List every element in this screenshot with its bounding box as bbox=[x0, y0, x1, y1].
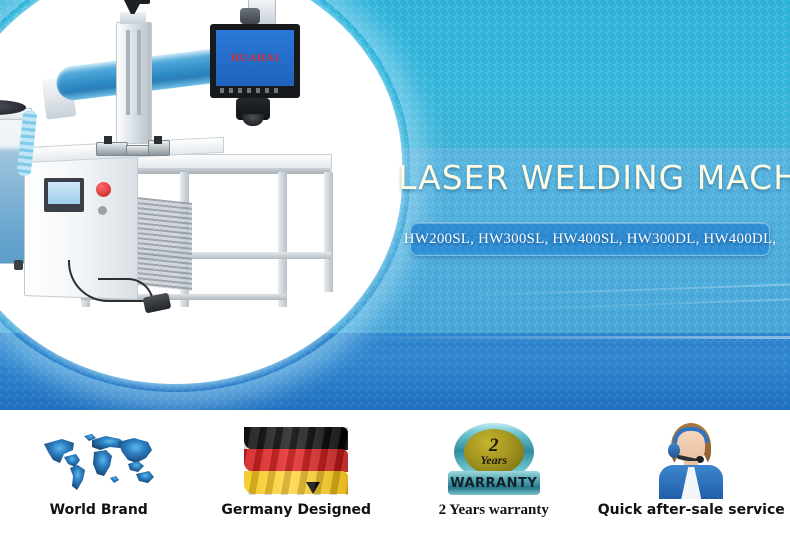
hmi-screen bbox=[48, 182, 80, 204]
hero-title: LASER WELDING MACHINE bbox=[398, 158, 790, 197]
feature-item-warranty: 2 Years WARRANTY 2 Years warranty bbox=[395, 410, 593, 541]
hero-section: HUAHAI LASER WELDING MACHINE HW200SL, HW… bbox=[0, 0, 790, 410]
fixture-clamp bbox=[96, 142, 128, 156]
headset-operator-icon bbox=[653, 422, 729, 500]
caster-wheel bbox=[14, 260, 23, 270]
ccd-camera-lens bbox=[242, 114, 264, 126]
monitor-buttons bbox=[220, 88, 280, 93]
vertical-column bbox=[116, 22, 152, 144]
badge-number: 2 bbox=[489, 438, 499, 454]
badge-ribbon-text: WARRANTY bbox=[450, 476, 537, 491]
warranty-badge-icon: 2 Years WARRANTY bbox=[448, 422, 540, 500]
badge-ribbon: WARRANTY bbox=[448, 471, 540, 495]
world-map-icon bbox=[40, 422, 158, 500]
warranty-badge: 2 Years WARRANTY bbox=[448, 423, 540, 499]
product-photo-panel: HUAHAI bbox=[0, 0, 402, 384]
table-leg bbox=[278, 172, 287, 307]
product-banner: HUAHAI LASER WELDING MACHINE HW200SL, HW… bbox=[0, 0, 790, 541]
flag-graphic bbox=[244, 427, 348, 495]
monitor-mount-clamp bbox=[240, 8, 260, 24]
machine-monitor-screen: HUAHAI bbox=[216, 30, 294, 86]
monitor-brand-logo: HUAHAI bbox=[231, 52, 279, 64]
fixture-knob bbox=[154, 136, 162, 144]
feature-item-after-sale-service: Quick after-sale service bbox=[593, 410, 790, 541]
flag-wave-shading bbox=[244, 427, 348, 495]
workpiece-fixture bbox=[96, 136, 168, 158]
feature-item-world-brand: World Brand bbox=[0, 410, 198, 541]
badge-years-text: Years bbox=[480, 454, 507, 466]
column-slot bbox=[126, 30, 130, 115]
model-numbers-pill: HW200SL, HW300SL, HW400SL, HW300DL, HW40… bbox=[410, 222, 770, 256]
feature-label: World Brand bbox=[50, 502, 148, 518]
column-slot bbox=[137, 30, 141, 115]
key-switch bbox=[98, 206, 107, 215]
emergency-stop-button bbox=[96, 182, 111, 197]
german-flag-icon bbox=[244, 422, 348, 500]
feature-bar: World Brand Germany Designed bbox=[0, 410, 790, 541]
laser-welding-machine-illustration: HUAHAI bbox=[0, 0, 402, 384]
feature-label: 2 Years warranty bbox=[439, 502, 549, 519]
model-numbers-text: HW200SL, HW300SL, HW400SL, HW300DL, HW40… bbox=[404, 231, 777, 248]
table-leg bbox=[324, 172, 333, 292]
column-adjust-lever bbox=[136, 0, 150, 4]
feature-label: Germany Designed bbox=[221, 502, 371, 518]
feature-item-germany-designed: Germany Designed bbox=[198, 410, 396, 541]
fixture-knob bbox=[104, 136, 112, 144]
operator-avatar bbox=[653, 423, 729, 499]
badge-gold-face: 2 Years bbox=[464, 429, 524, 475]
feature-label: Quick after-sale service bbox=[598, 502, 785, 518]
